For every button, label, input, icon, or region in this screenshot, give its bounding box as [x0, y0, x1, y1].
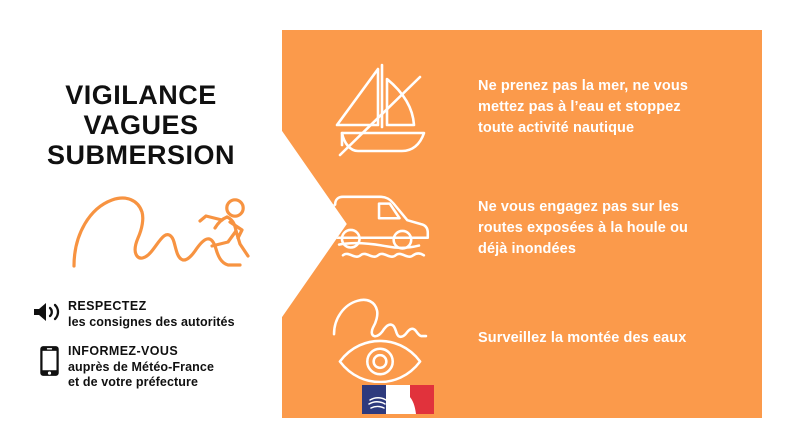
- page-title: VIGILANCE VAGUES SUBMERSION: [0, 80, 282, 170]
- wave-runner-logo: [72, 186, 262, 272]
- advice-text-informez-vous: INFORMEZ-VOUS auprès de Météo-France et …: [68, 344, 282, 391]
- page-title-line-1: VIGILANCE: [0, 80, 282, 110]
- advice-heading-informez-vous: INFORMEZ-VOUS: [68, 344, 282, 360]
- advice-body-informez-vous: auprès de Météo-France et de votre préfe…: [68, 360, 282, 391]
- advice-body-respectez: les consignes des autorités: [68, 315, 282, 331]
- instruction-text-no-flooded-roads: Ne vous engagez pas sur les routes expos…: [478, 197, 762, 260]
- speaker-icon: [30, 299, 68, 324]
- page-title-line-3: SUBMERSION: [0, 140, 282, 170]
- instruction-item-watch-water: Surveillez la montée des eaux: [282, 288, 762, 388]
- page-title-line-2: VAGUES: [0, 110, 282, 140]
- instruction-text-watch-water: Surveillez la montée des eaux: [478, 328, 762, 349]
- marianne-french-republic-logo: [362, 385, 434, 414]
- van-in-water-icon: [282, 178, 478, 278]
- left-column: VIGILANCE VAGUES SUBMERSION: [0, 0, 282, 445]
- instruction-item-no-sailing: Ne prenez pas la mer, ne vous mettez pas…: [282, 48, 762, 166]
- sailboat-forbidden-icon: [282, 48, 478, 166]
- instruction-item-no-flooded-roads: Ne vous engagez pas sur les routes expos…: [282, 178, 762, 278]
- wave-over-eye-icon: [282, 288, 478, 388]
- smartphone-icon: [30, 344, 68, 377]
- orange-instructions-panel: Ne prenez pas la mer, ne vous mettez pas…: [282, 30, 762, 418]
- advice-item-respectez: RESPECTEZ les consignes des autorités: [30, 299, 282, 330]
- advice-text-respectez: RESPECTEZ les consignes des autorités: [68, 299, 282, 330]
- advice-heading-respectez: RESPECTEZ: [68, 299, 282, 315]
- instruction-text-no-sailing: Ne prenez pas la mer, ne vous mettez pas…: [478, 76, 762, 139]
- advice-item-informez-vous: INFORMEZ-VOUS auprès de Météo-France et …: [30, 344, 282, 391]
